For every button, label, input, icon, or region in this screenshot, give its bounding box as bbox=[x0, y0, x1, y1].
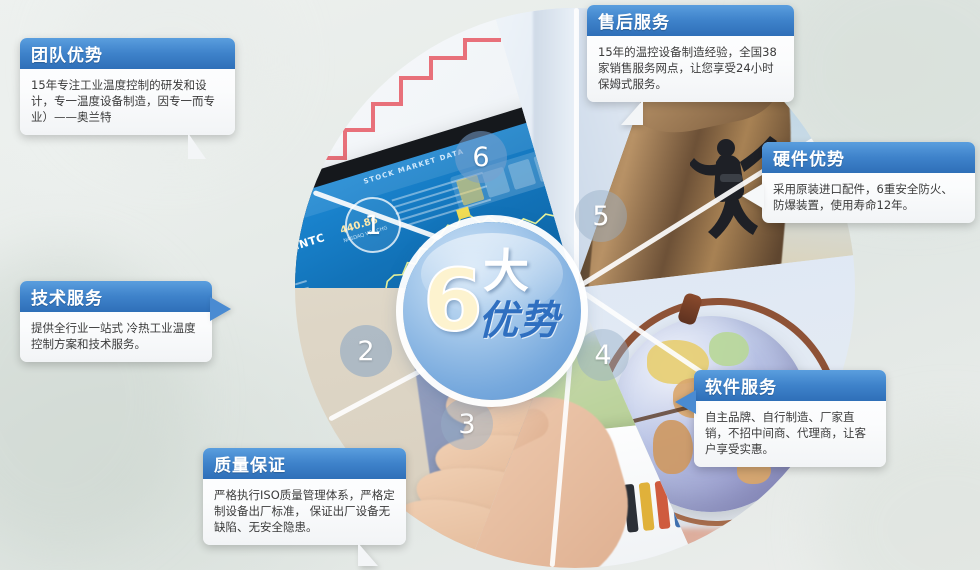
center-number: 6 bbox=[423, 258, 483, 344]
callout-title: 软件服务 bbox=[705, 373, 777, 398]
callout-technical-service[interactable]: 技术服务 提供全行业一站式 冷热工业温度控制方案和技术服务。 bbox=[20, 281, 212, 362]
callout-body: 15年的温控设备制造经验，全国38家销售服务网点，让您享受24小时保姆式服务。 bbox=[587, 36, 794, 102]
step-number-4[interactable]: 4 bbox=[577, 329, 629, 381]
callout-pointer bbox=[742, 183, 764, 209]
step-number-3-label: 3 bbox=[458, 409, 475, 440]
step-number-4-label: 4 bbox=[594, 340, 611, 371]
step-number-6[interactable]: 6 bbox=[455, 131, 507, 183]
callout-pointer bbox=[210, 297, 231, 321]
callout-header: 软件服务 bbox=[694, 370, 886, 401]
callout-title: 售后服务 bbox=[598, 8, 670, 33]
callout-body: 提供全行业一站式 冷热工业温度控制方案和技术服务。 bbox=[20, 312, 212, 362]
callout-after-sales[interactable]: 售后服务 15年的温控设备制造经验，全国38家销售服务网点，让您享受24小时保姆… bbox=[587, 5, 794, 102]
center-char-da: 大 bbox=[483, 248, 529, 294]
callout-software-service[interactable]: 软件服务 自主品牌、自行制造、厂家直销，不招中间商、代理商，让客户享受实惠。 bbox=[694, 370, 886, 467]
callout-body: 15年专注工业温度控制的研发和设计，专一温度设备制造，因专一而专业）——奥兰特 bbox=[20, 69, 235, 135]
callout-title: 技术服务 bbox=[31, 284, 103, 309]
callout-header: 质量保证 bbox=[203, 448, 406, 479]
callout-header: 售后服务 bbox=[587, 5, 794, 36]
callout-hardware-advantage[interactable]: 硬件优势 采用原装进口配件，6重安全防火、防爆装置，使用寿命12年。 bbox=[762, 142, 975, 223]
step-number-2-label: 2 bbox=[357, 336, 374, 367]
step-number-5[interactable]: 5 bbox=[575, 190, 627, 242]
callout-title: 团队优势 bbox=[31, 41, 103, 66]
callout-header: 硬件优势 bbox=[762, 142, 975, 173]
callout-body: 严格执行ISO质量管理体系，严格定制设备出厂标准， 保证出厂设备无缺陷、无安全隐… bbox=[203, 479, 406, 545]
center-char-youshi: 优势 bbox=[478, 300, 560, 342]
center-badge[interactable]: 6 大 优势 bbox=[403, 222, 581, 400]
step-number-1[interactable]: 1 bbox=[345, 197, 401, 253]
callout-body: 采用原装进口配件，6重安全防火、防爆装置，使用寿命12年。 bbox=[762, 173, 975, 223]
callout-body: 自主品牌、自行制造、厂家直销，不招中间商、代理商，让客户享受实惠。 bbox=[694, 401, 886, 467]
callout-title: 质量保证 bbox=[214, 451, 286, 476]
callout-header: 团队优势 bbox=[20, 38, 235, 69]
continent-shape bbox=[653, 420, 693, 474]
callout-pointer bbox=[188, 133, 206, 159]
callout-team-advantage[interactable]: 团队优势 15年专注工业温度控制的研发和设计，专一温度设备制造，因专一而专业）—… bbox=[20, 38, 235, 135]
callout-pointer bbox=[675, 390, 696, 414]
step-number-5-label: 5 bbox=[592, 201, 609, 232]
callout-pointer bbox=[621, 100, 643, 125]
step-number-2[interactable]: 2 bbox=[340, 325, 392, 377]
step-number-1-label: 1 bbox=[364, 210, 381, 241]
continent-shape bbox=[709, 332, 749, 366]
callout-title: 硬件优势 bbox=[773, 145, 845, 170]
callout-header: 技术服务 bbox=[20, 281, 212, 312]
step-number-3[interactable]: 3 bbox=[441, 398, 493, 450]
step-number-6-label: 6 bbox=[472, 142, 489, 173]
infographic-canvas: STOCK MARKET DATA INTC 440.86 NASDAQ VOL… bbox=[0, 0, 980, 570]
wheel-divider bbox=[574, 8, 579, 288]
callout-quality-assurance[interactable]: 质量保证 严格执行ISO质量管理体系，严格定制设备出厂标准， 保证出厂设备无缺陷… bbox=[203, 448, 406, 545]
callout-pointer bbox=[358, 543, 378, 566]
